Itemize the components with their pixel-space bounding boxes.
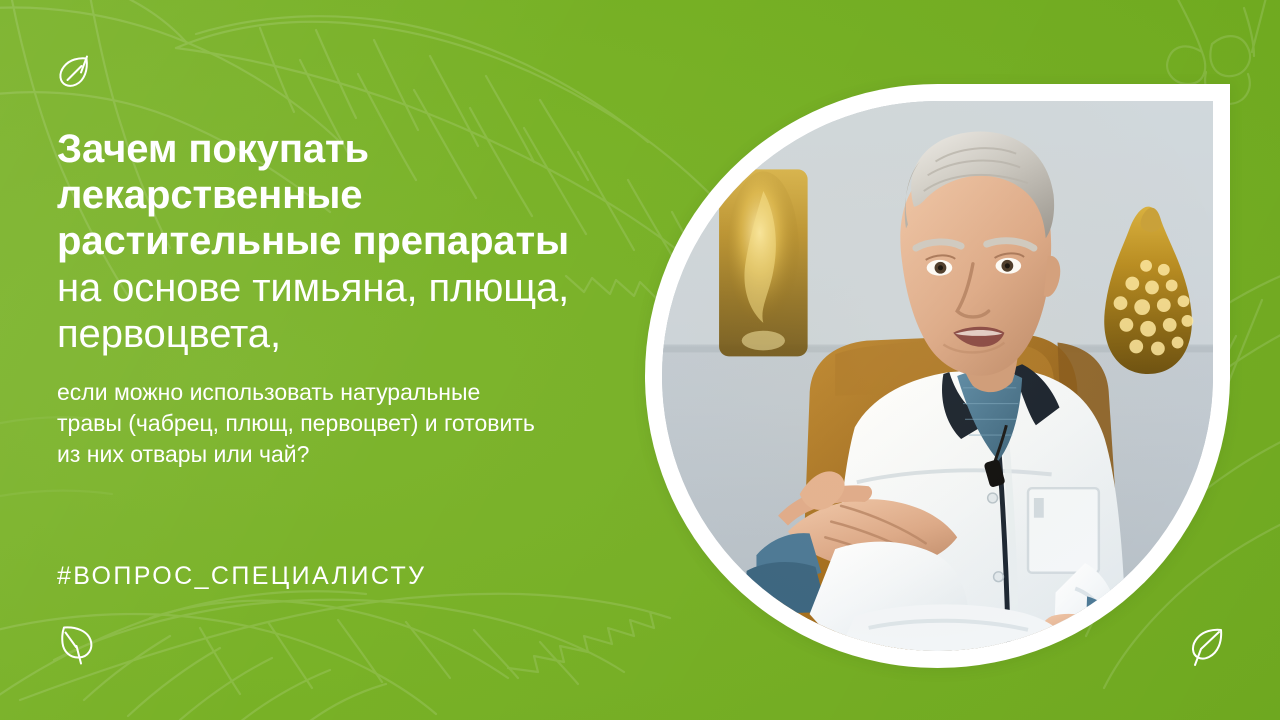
promo-banner: Зачем покупать лекарственные растительны… bbox=[0, 0, 1280, 720]
photo-clip bbox=[662, 101, 1213, 651]
headline-rest: на основе тимьяна, плюща, первоцвета, bbox=[57, 266, 569, 356]
hashtag-label: #ВОПРОС_СПЕЦИАЛИСТУ bbox=[57, 562, 426, 591]
headline-strong: Зачем покупать лекарственные растительны… bbox=[57, 127, 569, 263]
leaf-icon bbox=[57, 52, 93, 94]
page-title: Зачем покупать лекарственные растительны… bbox=[57, 126, 577, 357]
leaf-icon bbox=[57, 622, 97, 666]
subtitle: если можно использовать натуральные трав… bbox=[57, 357, 537, 469]
portrait-photo bbox=[645, 84, 1230, 668]
photo-image bbox=[662, 101, 1213, 651]
text-column: Зачем покупать лекарственные растительны… bbox=[57, 126, 577, 469]
